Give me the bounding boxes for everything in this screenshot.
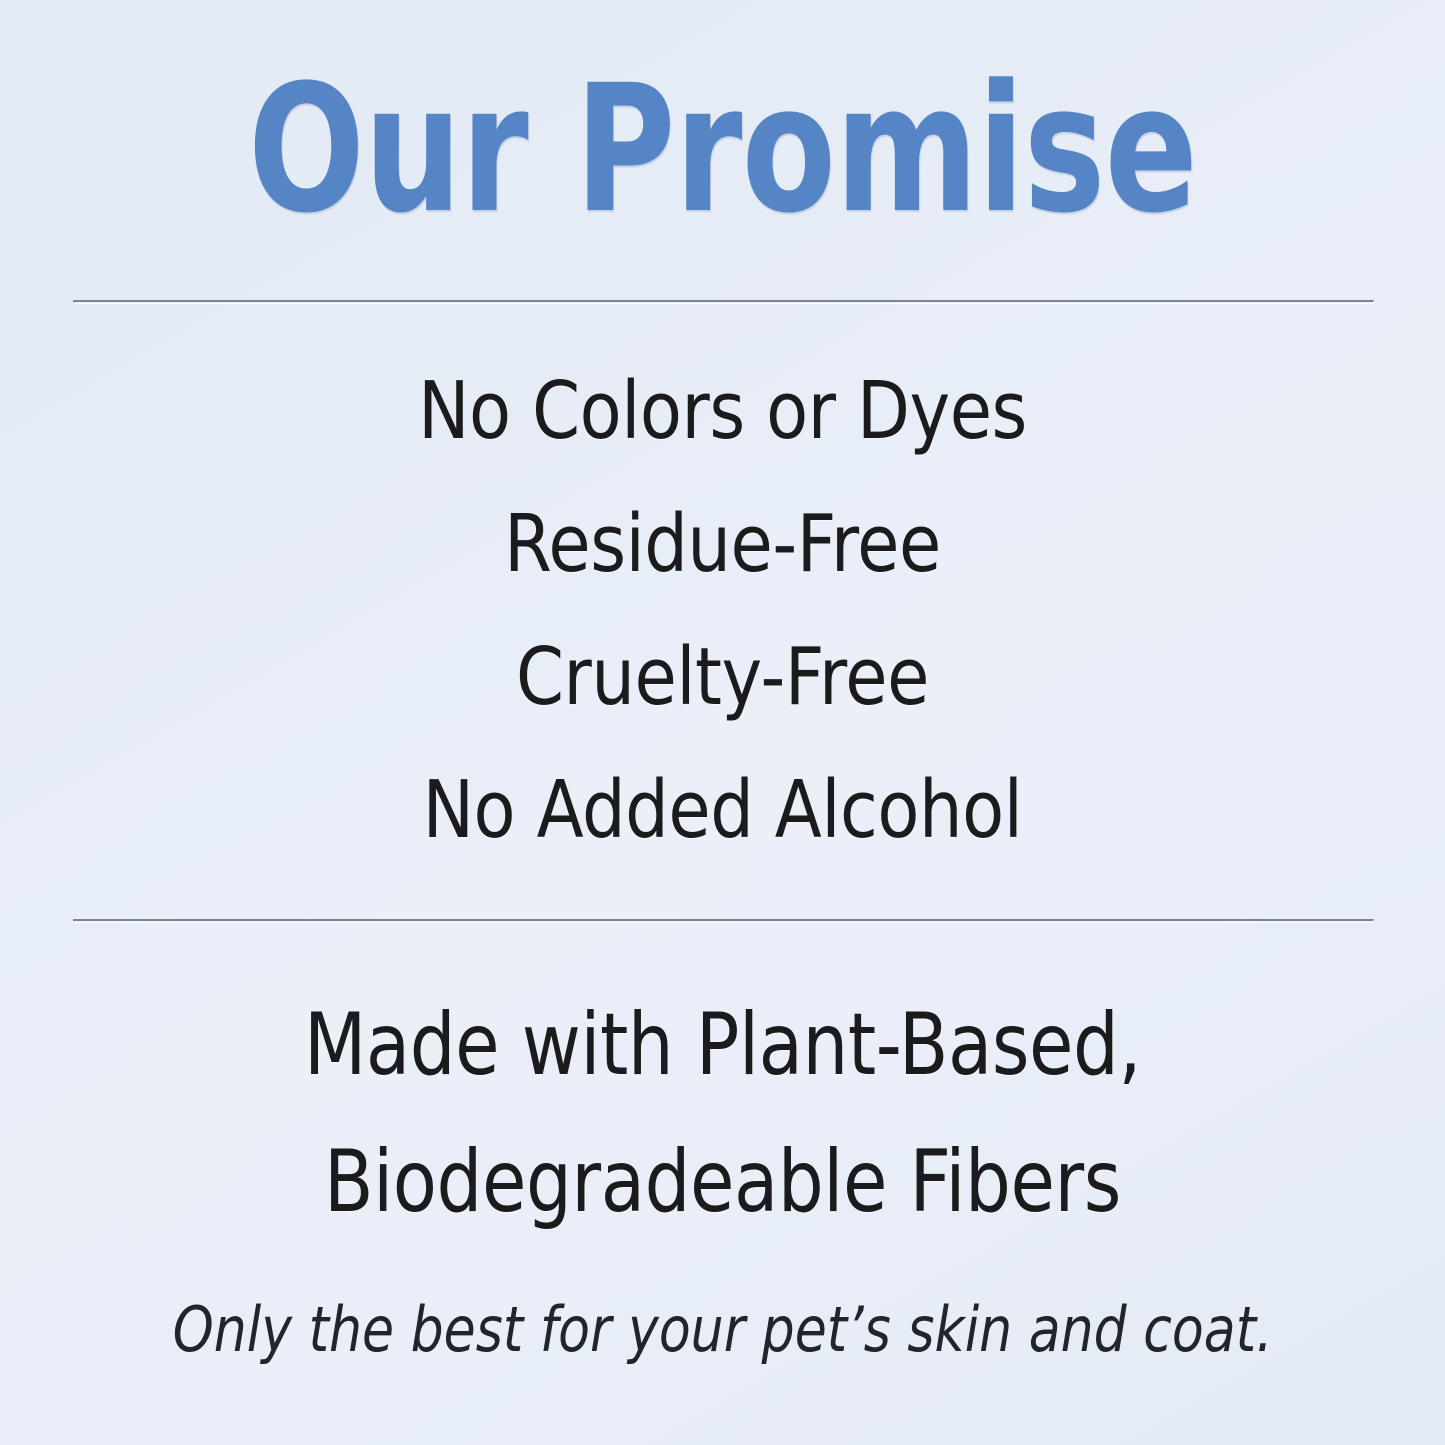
materials-line: Made with Plant-Based, (116, 977, 1330, 1114)
page-title: Our Promise (0, 62, 1445, 238)
our-promise-card: Our Promise No Colors or Dyes Residue-Fr… (0, 0, 1445, 1445)
materials-line: Biodegradeable Fibers (116, 1114, 1330, 1251)
list-item: Residue-Free (94, 478, 1351, 611)
list-item: Cruelty-Free (94, 611, 1351, 744)
divider-bottom (73, 919, 1374, 922)
list-item: No Colors or Dyes (94, 345, 1351, 478)
claims-list: No Colors or Dyes Residue-Free Cruelty-F… (0, 345, 1445, 877)
promise-title-text: Our Promise (159, 62, 1286, 238)
materials-statement: Made with Plant-Based, Biodegradeable Fi… (0, 977, 1445, 1251)
list-item: No Added Alcohol (94, 744, 1351, 877)
divider-top (73, 300, 1374, 303)
tagline: Only the best for your pet’s skin and co… (0, 1296, 1445, 1364)
tagline-text: Only the best for your pet’s skin and co… (173, 1296, 1273, 1364)
